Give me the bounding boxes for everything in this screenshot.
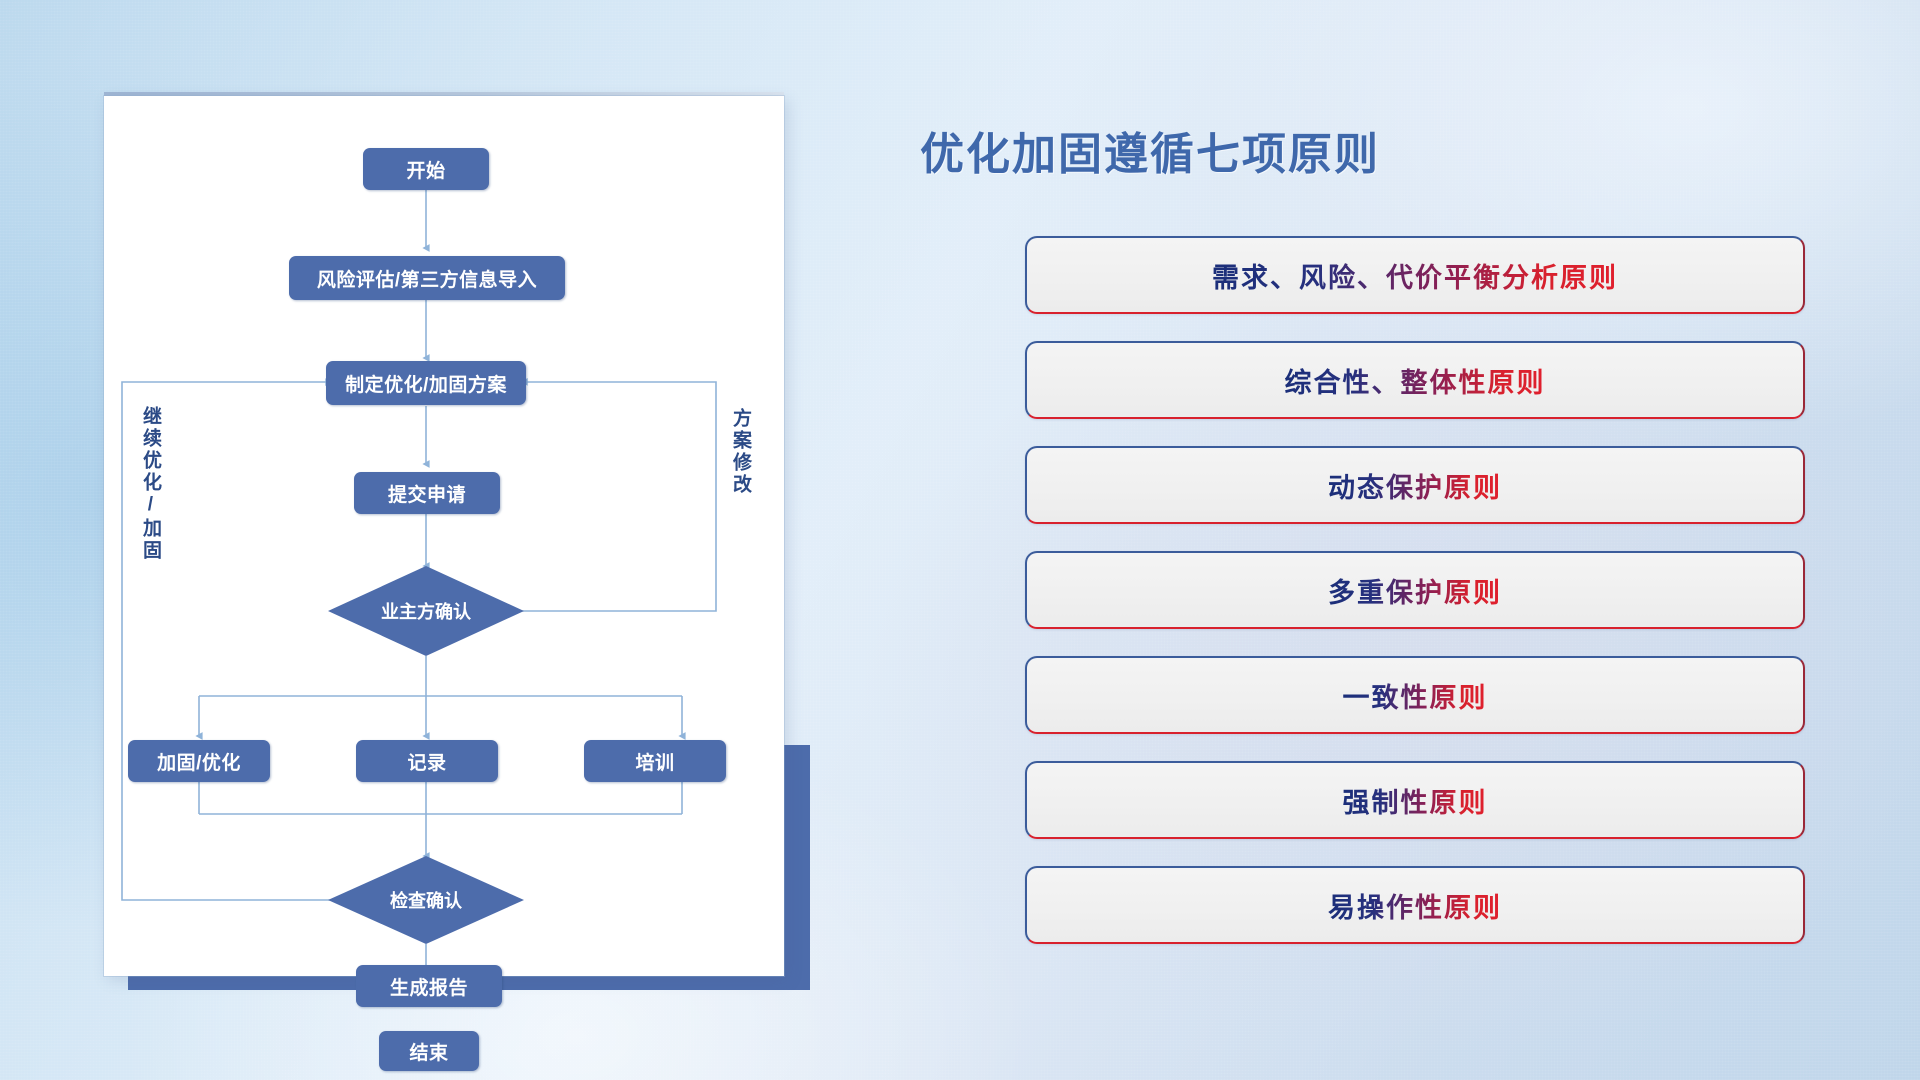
flow-node-generate-report[interactable]: 生成报告 xyxy=(356,965,502,1007)
principle-card-1[interactable]: 需求、风险、代价平衡分析原则 xyxy=(1025,236,1805,314)
principles-title: 优化加固遵循七项原则 xyxy=(920,118,1380,182)
flowchart-connectors xyxy=(104,96,784,976)
principle-card-1-label: 需求、风险、代价平衡分析原则 xyxy=(1212,256,1618,295)
flow-node-training[interactable]: 培训 xyxy=(584,740,726,782)
flow-node-generate-report-label: 生成报告 xyxy=(390,973,468,1000)
principle-card-4[interactable]: 多重保护原则 xyxy=(1025,551,1805,629)
flow-node-submit-application[interactable]: 提交申请 xyxy=(354,472,500,514)
flow-node-make-plan[interactable]: 制定优化/加固方案 xyxy=(326,361,526,405)
flow-node-record-label: 记录 xyxy=(407,748,446,775)
flow-node-start-label: 开始 xyxy=(406,156,445,183)
principle-card-6-label: 强制性原则 xyxy=(1343,781,1488,820)
principle-card-6[interactable]: 强制性原则 xyxy=(1025,761,1805,839)
principle-card-3-label: 动态保护原则 xyxy=(1328,466,1502,505)
principle-card-3[interactable]: 动态保护原则 xyxy=(1025,446,1805,524)
flow-node-owner-confirm-label: 业主方确认 xyxy=(381,598,471,624)
flow-node-check-confirm-label: 检查确认 xyxy=(390,887,462,913)
principle-card-4-label: 多重保护原则 xyxy=(1328,571,1502,610)
flow-node-risk-assessment-label: 风险评估/第三方信息导入 xyxy=(317,265,537,292)
flow-node-end[interactable]: 结束 xyxy=(379,1031,479,1071)
flow-node-end-label: 结束 xyxy=(409,1038,448,1065)
flow-node-submit-application-label: 提交申请 xyxy=(388,480,466,507)
principles-list: 需求、风险、代价平衡分析原则 综合性、整体性原则 动态保护原则 多重保护原则 一… xyxy=(1025,236,1805,971)
flow-node-owner-confirm[interactable]: 业主方确认 xyxy=(328,566,524,656)
principle-card-5[interactable]: 一致性原则 xyxy=(1025,656,1805,734)
flowchart-panel: 开始 风险评估/第三方信息导入 制定优化/加固方案 提交申请 业主方确认 加固/… xyxy=(104,96,784,976)
flow-node-record[interactable]: 记录 xyxy=(356,740,498,782)
flow-node-make-plan-label: 制定优化/加固方案 xyxy=(345,370,507,397)
principle-card-2[interactable]: 综合性、整体性原则 xyxy=(1025,341,1805,419)
flow-node-training-label: 培训 xyxy=(635,748,674,775)
flow-node-reinforce-optimize[interactable]: 加固/优化 xyxy=(128,740,270,782)
principle-card-5-label: 一致性原则 xyxy=(1343,676,1488,715)
flow-node-reinforce-optimize-label: 加固/优化 xyxy=(157,748,241,775)
principle-card-2-label: 综合性、整体性原则 xyxy=(1285,361,1546,400)
flow-edge-label-right-loop: 方案修改 xyxy=(730,408,750,496)
flow-node-start[interactable]: 开始 xyxy=(363,148,489,190)
principle-card-7[interactable]: 易操作性原则 xyxy=(1025,866,1805,944)
flow-edge-label-left-loop: 继续优化/加固 xyxy=(140,406,160,562)
flow-node-check-confirm[interactable]: 检查确认 xyxy=(328,856,524,944)
principle-card-7-label: 易操作性原则 xyxy=(1328,886,1502,925)
flow-node-risk-assessment[interactable]: 风险评估/第三方信息导入 xyxy=(289,256,565,300)
